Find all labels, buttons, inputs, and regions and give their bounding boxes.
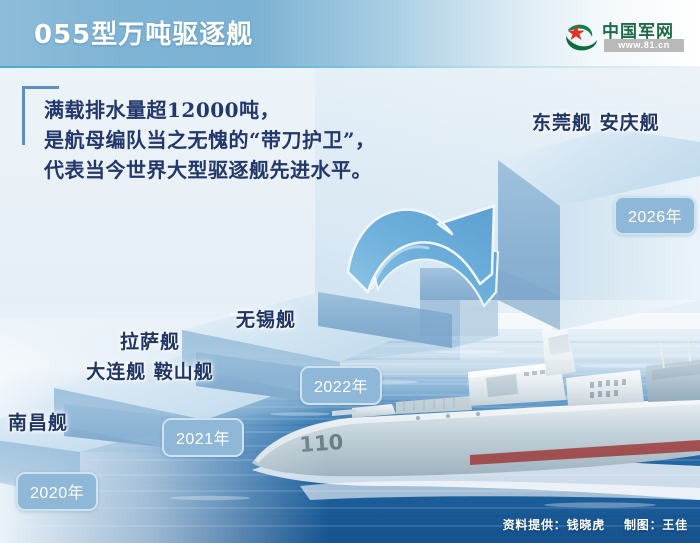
step-label-2022-ships: 无锡舰 [236, 305, 296, 332]
designer-credit: 制图：王佳 [624, 518, 688, 532]
source-credit: 资料提供：钱晓虎 [503, 518, 605, 532]
intro-line: 是航母编队当之无愧的“带刀护卫”， [44, 125, 454, 155]
year-badge-2020[interactable]: 2020年 [16, 472, 98, 511]
logo-url: www.81.cn [604, 39, 684, 52]
ship-name: 大连舰 鞍山舰 [60, 357, 240, 384]
ship-name: 无锡舰 [236, 305, 296, 332]
year-badge-2022[interactable]: 2022年 [300, 366, 382, 405]
year-badge-2021[interactable]: 2021年 [162, 418, 244, 457]
step-label-2021-ships: 拉萨舰 大连舰 鞍山舰 [60, 327, 240, 384]
site-logo[interactable]: 中国军网 www.81.cn [564, 17, 686, 55]
intro-line: 满载排水量超12000吨， [44, 95, 454, 125]
step-label-2026-ships: 东莞舰 安庆舰 [532, 108, 660, 135]
bayi-emblem-icon [564, 19, 598, 53]
infographic-root: 110 [0, 0, 700, 543]
credit-line: 资料提供：钱晓虎 制图：王佳 [503, 516, 688, 533]
ship-name: 拉萨舰 [60, 327, 240, 354]
year-badge-2026[interactable]: 2026年 [614, 196, 696, 235]
intro-text: 满载排水量超12000吨， 是航母编队当之无愧的“带刀护卫”， 代表当今世界大型… [44, 95, 454, 185]
intro-line: 代表当今世界大型驱逐舰先进水平。 [44, 155, 454, 185]
ship-name: 东莞舰 安庆舰 [532, 108, 660, 135]
page-title: 055型万吨驱逐舰 [34, 14, 253, 51]
header-underline [0, 66, 700, 68]
ship-name: 南昌舰 [8, 408, 68, 435]
step-label-2020-ships: 南昌舰 [8, 408, 68, 435]
